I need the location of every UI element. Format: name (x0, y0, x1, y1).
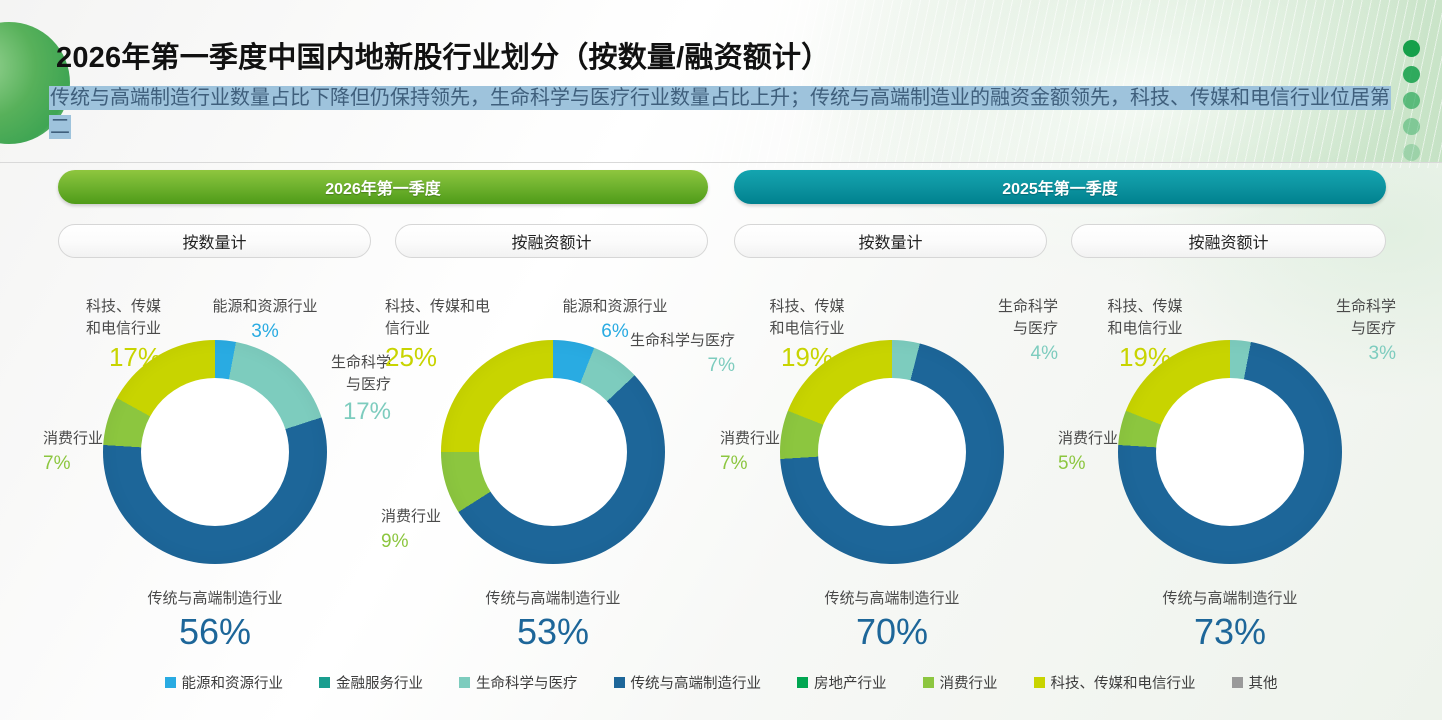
slide-root: 2026年第一季度中国内地新股行业划分（按数量/融资额计） 传统与高端制造行业数… (0, 0, 1442, 720)
legend-swatch-icon (459, 677, 470, 688)
chart-legend: 能源和资源行业金融服务行业生命科学与医疗传统与高端制造行业房地产行业消费行业科技… (0, 672, 1442, 693)
callout-consumer-label: 消费行业 (43, 430, 103, 447)
subtitle-selected-text: 传统与高端制造行业数量占比下降但仍保持领先，生命科学与医疗行业数量占比上升；传统… (50, 87, 1390, 138)
donut-hole (1156, 378, 1304, 526)
decorative-dot (1403, 118, 1420, 135)
legend-swatch-icon (319, 677, 330, 688)
donut-chart-2026-count (103, 340, 327, 564)
callout-energy-label: 能源和资源行业 (212, 298, 317, 315)
page-title: 2026年第一季度中国内地新股行业划分（按数量/融资额计） (56, 34, 830, 76)
callout-manufacturing-value: 73% (1060, 610, 1400, 654)
callout-tmt-label: 科技、传媒 和电信行业 (86, 298, 161, 337)
donut-hole (818, 378, 966, 526)
header-divider (0, 162, 1442, 163)
legend-swatch-icon (165, 677, 176, 688)
legend-item-label: 能源和资源行业 (182, 672, 284, 693)
donut-hole (141, 378, 289, 526)
legend-swatch-icon (1034, 677, 1045, 688)
period-header-2026: 2026年第一季度 (58, 170, 708, 204)
callout-manufacturing-value: 53% (383, 610, 723, 654)
callout-consumer-label: 消费行业 (720, 430, 780, 447)
callout-manufacturing-label: 传统与高端制造行业 (722, 587, 1062, 608)
legend-swatch-icon (923, 677, 934, 688)
decorative-dot (1403, 66, 1420, 83)
legend-item[interactable]: 传统与高端制造行业 (614, 672, 762, 693)
decorative-dot-column (1403, 40, 1420, 161)
callout-tmt-label: 科技、传媒 和电信行业 (1107, 298, 1182, 337)
donut-panel-2026-count: 科技、传媒 和电信行业 17% 能源和资源行业 3% 生命科学 与医疗 17% … (45, 266, 385, 656)
decorative-dot (1403, 40, 1420, 57)
donut-panel-2026-amount: 科技、传媒和电 信行业 25% 能源和资源行业 6% 生命科学与医疗 7% 消费… (383, 266, 723, 656)
legend-item[interactable]: 消费行业 (923, 672, 998, 693)
legend-item-label: 消费行业 (940, 672, 998, 693)
legend-item[interactable]: 科技、传媒和电信行业 (1034, 672, 1196, 693)
callout-manufacturing-label: 传统与高端制造行业 (45, 587, 385, 608)
legend-item[interactable]: 金融服务行业 (319, 672, 423, 693)
callout-manufacturing: 传统与高端制造行业 56% (45, 587, 385, 654)
donut-hole (479, 378, 627, 526)
callout-consumer-label: 消费行业 (381, 508, 441, 525)
legend-item[interactable]: 其他 (1232, 672, 1278, 693)
legend-item-label: 科技、传媒和电信行业 (1051, 672, 1196, 693)
legend-swatch-icon (1232, 677, 1243, 688)
callout-manufacturing: 传统与高端制造行业 73% (1060, 587, 1400, 654)
callout-manufacturing-value: 70% (722, 610, 1062, 654)
metric-header-amount-2025: 按融资额计 (1071, 224, 1386, 258)
metric-header-amount-2026: 按融资额计 (395, 224, 708, 258)
donut-chart-2025-amount (1118, 340, 1342, 564)
legend-item-label: 金融服务行业 (336, 672, 423, 693)
donut-panel-2025-count: 科技、传媒 和电信行业 19% 生命科学 与医疗 4% 消费行业 7% 传统与高… (722, 266, 1062, 656)
legend-item[interactable]: 生命科学与医疗 (459, 672, 578, 693)
donut-panel-2025-amount: 科技、传媒 和电信行业 19% 生命科学 与医疗 3% 消费行业 5% 传统与高… (1060, 266, 1400, 656)
donut-chart-2025-count (780, 340, 1004, 564)
callout-life-science-label: 生命科学 与医疗 (1336, 298, 1396, 337)
callout-manufacturing: 传统与高端制造行业 70% (722, 587, 1062, 654)
legend-item[interactable]: 能源和资源行业 (165, 672, 284, 693)
callout-manufacturing-label: 传统与高端制造行业 (383, 587, 723, 608)
legend-item-label: 房地产行业 (814, 672, 887, 693)
callout-life-science-label: 生命科学 与医疗 (331, 354, 391, 393)
legend-item-label: 其他 (1249, 672, 1278, 693)
legend-swatch-icon (797, 677, 808, 688)
donut-chart-2026-amount (441, 340, 665, 564)
callout-manufacturing-value: 56% (45, 610, 385, 654)
callout-tmt-label: 科技、传媒 和电信行业 (769, 298, 844, 337)
period-header-2025: 2025年第一季度 (734, 170, 1386, 204)
metric-header-count-2025: 按数量计 (734, 224, 1047, 258)
legend-item-label: 传统与高端制造行业 (631, 672, 762, 693)
callout-life-science-label: 生命科学 与医疗 (998, 298, 1058, 337)
decorative-dot (1403, 144, 1420, 161)
legend-item-label: 生命科学与医疗 (476, 672, 578, 693)
metric-header-count-2026: 按数量计 (58, 224, 371, 258)
page-subtitle: 传统与高端制造行业数量占比下降但仍保持领先，生命科学与医疗行业数量占比上升；传统… (50, 84, 1402, 142)
legend-item[interactable]: 房地产行业 (797, 672, 887, 693)
callout-tmt-label: 科技、传媒和电 信行业 (385, 298, 490, 337)
legend-swatch-icon (614, 677, 625, 688)
callout-consumer-label: 消费行业 (1058, 430, 1118, 447)
callout-manufacturing: 传统与高端制造行业 53% (383, 587, 723, 654)
callout-manufacturing-label: 传统与高端制造行业 (1060, 587, 1400, 608)
decorative-dot (1403, 92, 1420, 109)
